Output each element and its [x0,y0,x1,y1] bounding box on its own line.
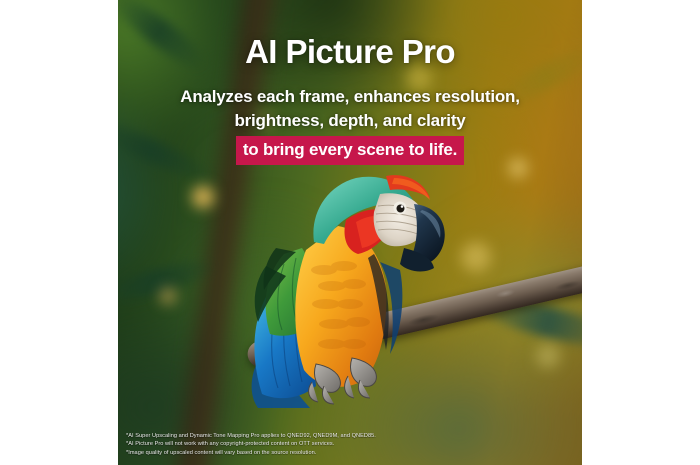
macaw-eye-pupil [397,205,405,213]
subcopy-line-2: brightness, depth, and clarity [130,109,570,133]
banner-subcopy: Analyzes each frame, enhances resolution… [130,85,570,165]
footnote-disclaimers: *AI Super Upscaling and Dynamic Tone Map… [126,432,574,458]
disclaimer-line-3: *Image quality of upscaled content will … [126,449,574,458]
disclaimer-line-2: *AI Picture Pro will not work with any c… [126,440,574,449]
page-canvas: AI Picture Pro Analyzes each frame, enha… [0,0,700,465]
ai-picture-pro-banner: AI Picture Pro Analyzes each frame, enha… [118,0,582,465]
macaw-eye-glint [401,205,404,208]
subcopy-line-3: to bring every scene to life. [130,136,570,165]
highlighted-tagline: to bring every scene to life. [236,136,464,165]
subcopy-line-1: Analyzes each frame, enhances resolution… [130,85,570,109]
banner-copy: AI Picture Pro Analyzes each frame, enha… [118,34,582,165]
page-title: AI Picture Pro [130,34,570,71]
disclaimer-line-1: *AI Super Upscaling and Dynamic Tone Map… [126,432,574,441]
macaw-parrot-image [240,158,450,408]
